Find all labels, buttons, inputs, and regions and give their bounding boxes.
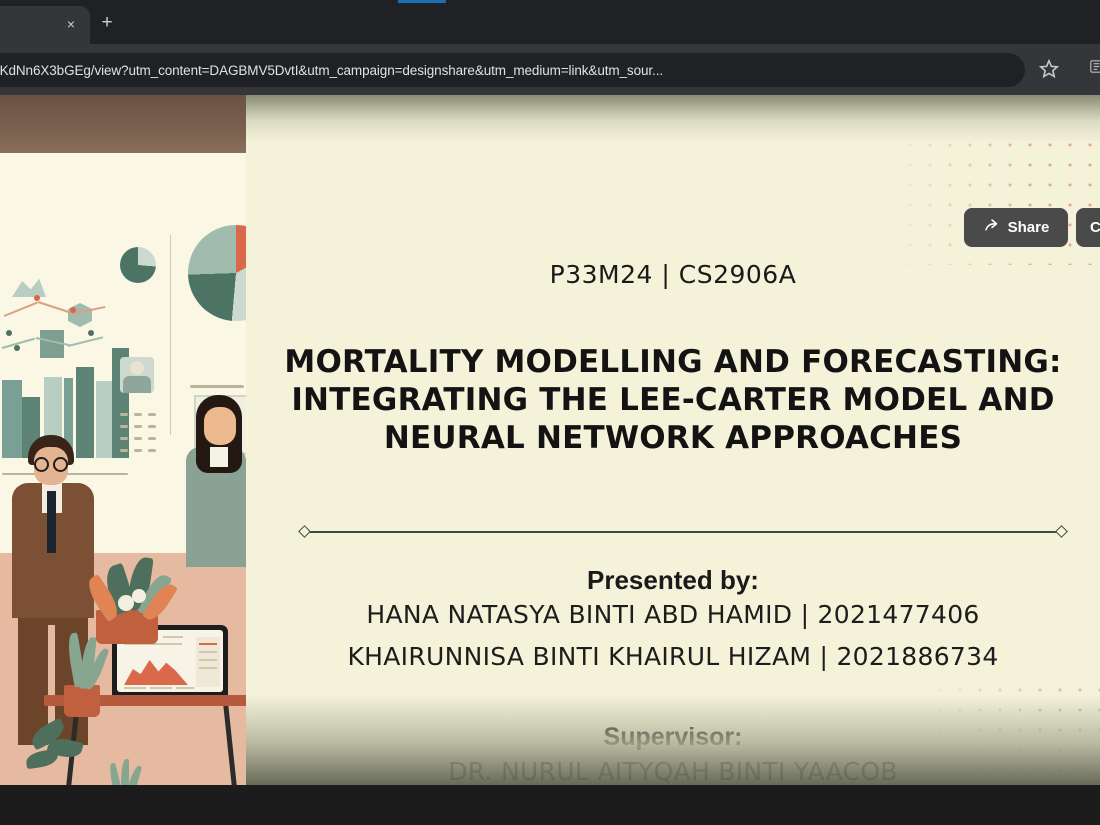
course-code: P33M24 | CS2906A	[246, 260, 1100, 289]
extensions-icon[interactable]	[1084, 58, 1100, 82]
screen: × + .com/design/DAGBMV5DvtI/w8cxInXvyIGK…	[0, 0, 1100, 825]
presenter-name-2: KHAIRUNNISA BINTI KHAIRUL HIZAM | 202188…	[246, 642, 1100, 671]
address-bar-url: .com/design/DAGBMV5DvtI/w8cxInXvyIGKdNn6…	[0, 63, 663, 78]
new-tab-icon[interactable]: +	[94, 10, 120, 36]
divider-diamond-left-icon	[298, 525, 311, 538]
slide-top-shadow	[246, 95, 1100, 143]
tab-close-icon[interactable]: ×	[60, 13, 82, 35]
taskbar: arch	[0, 785, 1100, 825]
share-arrow-icon	[983, 217, 1001, 239]
slide-bottom-shadow	[246, 695, 1100, 785]
divider-diamond-right-icon	[1055, 525, 1068, 538]
slide-title: MORTALITY MODELLING AND FORECASTING: INT…	[276, 343, 1070, 457]
present-button[interactable]: C	[1076, 208, 1100, 247]
divider	[302, 531, 1064, 533]
omnibox-row: .com/design/DAGBMV5DvtI/w8cxInXvyIGKdNn6…	[0, 44, 1100, 95]
present-button-label: C	[1090, 219, 1100, 236]
presenter-name-1: HANA NATASYA BINTI ABD HAMID | 202147740…	[246, 600, 1100, 629]
tab-strip: × +	[0, 0, 1100, 44]
browser-chrome: × + .com/design/DAGBMV5DvtI/w8cxInXvyIGK…	[0, 0, 1100, 95]
share-button-label: Share	[1008, 219, 1050, 236]
share-button[interactable]: Share	[964, 208, 1068, 247]
presentation-slide[interactable]: P33M24 | CS2906A MORTALITY MODELLING AND…	[246, 95, 1100, 785]
slide-illustration	[0, 95, 246, 785]
star-icon[interactable]	[1038, 58, 1062, 82]
presented-by-label: Presented by:	[246, 565, 1100, 596]
pie-chart-small-icon	[120, 247, 156, 283]
canva-viewer: P33M24 | CS2906A MORTALITY MODELLING AND…	[0, 95, 1100, 785]
address-bar[interactable]: .com/design/DAGBMV5DvtI/w8cxInXvyIGKdNn6…	[0, 53, 1025, 87]
